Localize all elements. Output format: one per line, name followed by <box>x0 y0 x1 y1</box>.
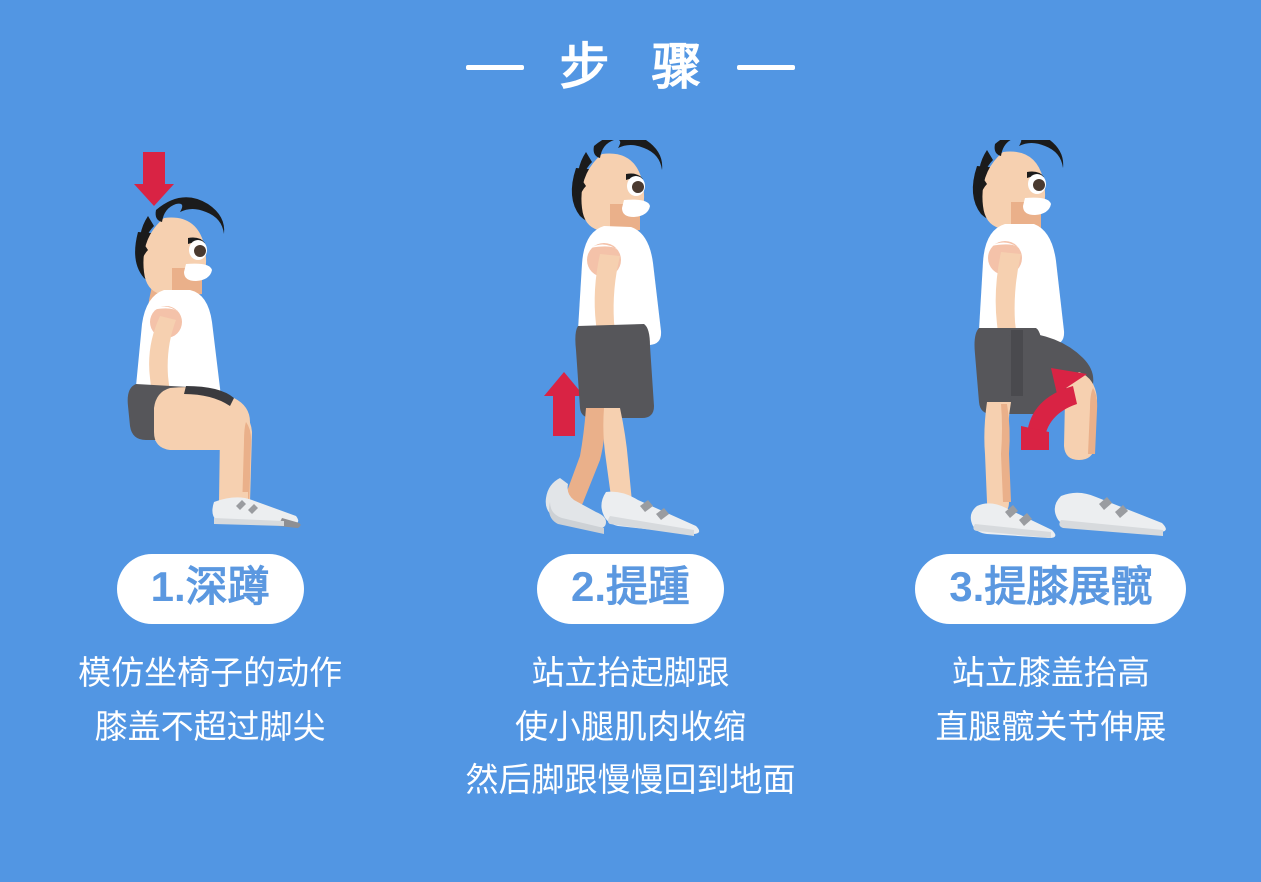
arrow-down-icon <box>134 152 174 206</box>
step-2-illustration <box>480 140 780 540</box>
caption-line: 膝盖不超过脚尖 <box>78 700 342 753</box>
caption-line: 然后脚跟慢慢回到地面 <box>465 753 795 806</box>
step-3-label[interactable]: 3.提膝展髋 <box>915 554 1186 624</box>
exercise-steps-poster: 步 骤 <box>0 0 1261 882</box>
step-column-2: 2.提踵 站立抬起脚跟 使小腿肌肉收缩 然后脚跟慢慢回到地面 <box>420 140 840 882</box>
step-column-3: 3.提膝展髋 站立膝盖抬高 直腿髋关节伸展 <box>841 140 1261 882</box>
step-2-caption: 站立抬起脚跟 使小腿肌肉收缩 然后脚跟慢慢回到地面 <box>465 646 795 806</box>
title-dash-right <box>737 65 795 70</box>
caption-line: 直腿髋关节伸展 <box>935 700 1166 753</box>
caption-line: 模仿坐椅子的动作 <box>78 646 342 699</box>
arrow-up-icon <box>544 372 584 436</box>
title-text: 步 骤 <box>546 42 716 92</box>
step-1-illustration <box>60 140 360 540</box>
caption-line: 站立膝盖抬高 <box>935 646 1166 699</box>
steps-container: 1.深蹲 模仿坐椅子的动作 膝盖不超过脚尖 <box>0 140 1261 882</box>
page-title: 步 骤 <box>0 42 1261 92</box>
caption-line: 站立抬起脚跟 <box>465 646 795 699</box>
title-dash-left <box>466 65 524 70</box>
step-1-label[interactable]: 1.深蹲 <box>117 554 304 624</box>
caption-line: 使小腿肌肉收缩 <box>465 700 795 753</box>
step-1-caption: 模仿坐椅子的动作 膝盖不超过脚尖 <box>78 646 342 753</box>
step-2-label[interactable]: 2.提踵 <box>537 554 724 624</box>
step-column-1: 1.深蹲 模仿坐椅子的动作 膝盖不超过脚尖 <box>0 140 420 882</box>
step-3-caption: 站立膝盖抬高 直腿髋关节伸展 <box>935 646 1166 753</box>
step-3-illustration <box>901 140 1201 540</box>
